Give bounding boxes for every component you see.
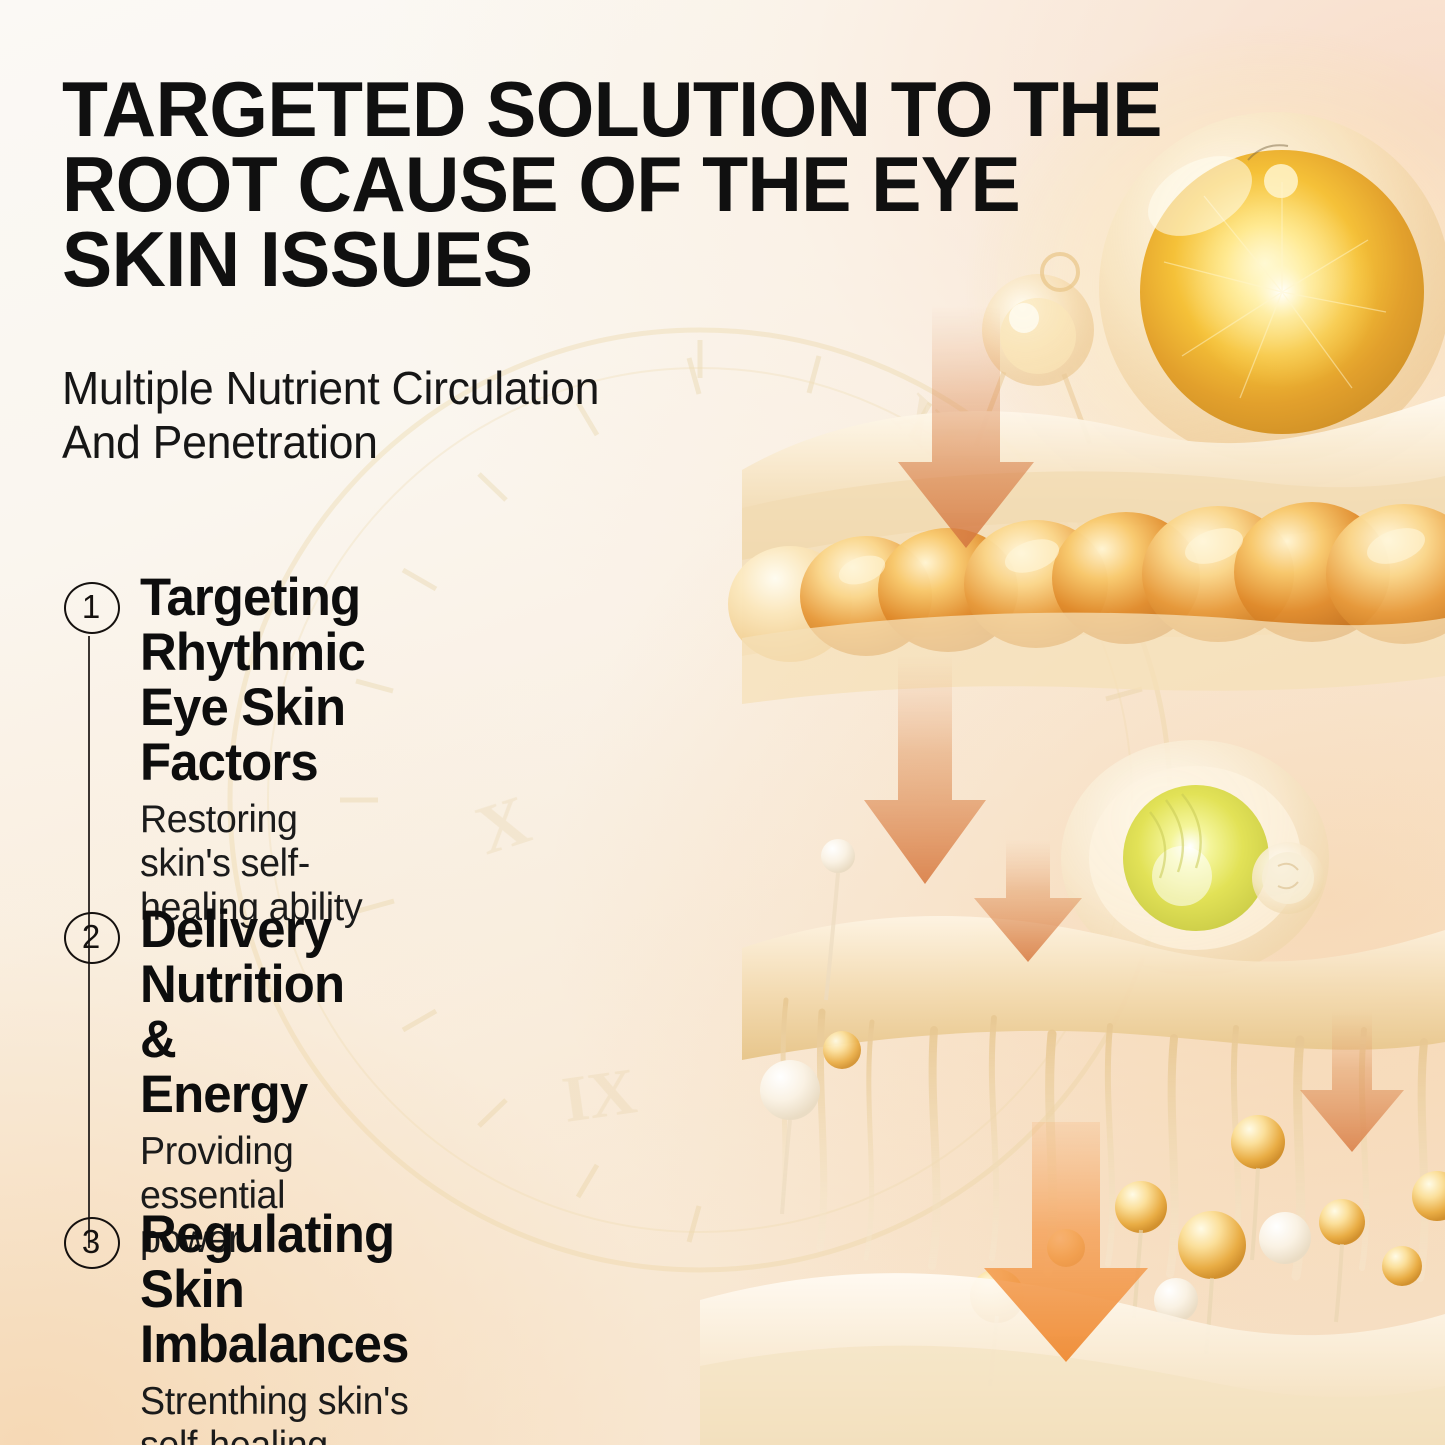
step-title-3: Regulating Skin Imbalances: [140, 1207, 409, 1372]
text-content: TARGETED SOLUTION TO THE ROOT CAUSE OF T…: [0, 0, 1445, 1445]
step-number-1: 1: [82, 590, 100, 623]
step-number-3: 3: [82, 1225, 100, 1258]
step-number-badge-2: 2: [62, 910, 120, 962]
step-number-2: 2: [82, 920, 100, 953]
page-subtitle: Multiple Nutrient Circulation And Penetr…: [62, 362, 799, 470]
step-title-1: Targeting Rhythmic Eye Skin Factors: [140, 570, 365, 790]
step-body-1: Targeting Rhythmic Eye Skin Factors Rest…: [140, 570, 374, 929]
step-title-2: Delivery Nutrition & Energy: [140, 902, 344, 1122]
infographic-canvas: XII XI X IX VII: [0, 0, 1445, 1445]
step-body-3: Regulating Skin Imbalances Strenthing sk…: [140, 1207, 420, 1445]
step-number-badge-3: 3: [62, 1215, 120, 1267]
step-number-badge-1: 1: [62, 580, 120, 632]
step-subtitle-3: Strenthing skin's self-healing capacity: [140, 1380, 410, 1445]
page-title: TARGETED SOLUTION TO THE ROOT CAUSE OF T…: [62, 72, 1210, 297]
